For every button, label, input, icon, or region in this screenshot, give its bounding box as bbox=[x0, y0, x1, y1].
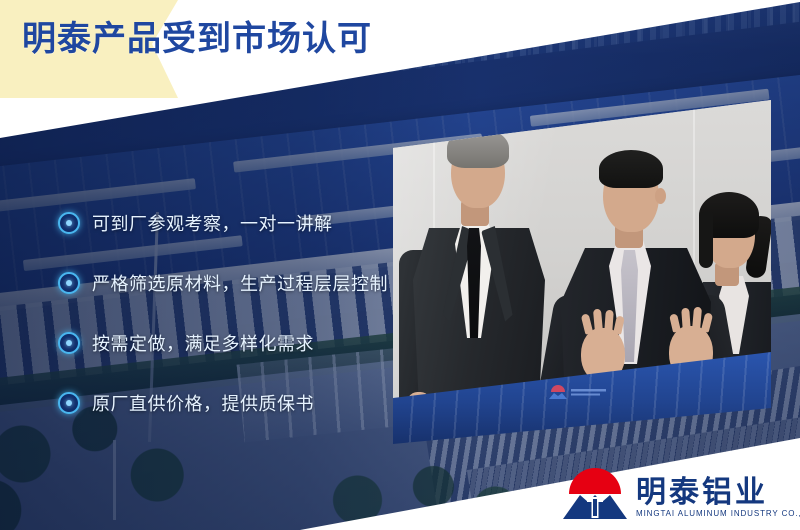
bullet-item-2: 严格筛选原材料，生产过程层层控制 bbox=[58, 270, 388, 296]
mini-mingtai-logo-icon bbox=[548, 384, 608, 400]
company-logo: 明泰铝业 MINGTAI ALUMINUM INDUSTRY CO., LTD bbox=[562, 462, 790, 520]
target-bullseye-icon bbox=[58, 332, 80, 354]
promo-banner: 明泰产品受到市场认可 bbox=[0, 0, 800, 530]
bullet-item-3: 按需定做，满足多样化需求 bbox=[58, 330, 388, 356]
sun-mountain-logo-icon bbox=[562, 464, 628, 520]
logo-name-cn: 明泰铝业 bbox=[636, 477, 768, 509]
bullet-item-1: 可到厂参观考察，一对一讲解 bbox=[58, 210, 388, 236]
bullet-label: 按需定做，满足多样化需求 bbox=[92, 330, 314, 356]
bullet-label: 原厂直供价格，提供质保书 bbox=[92, 390, 314, 416]
target-bullseye-icon bbox=[58, 212, 80, 234]
page-title: 明泰产品受到市场认可 bbox=[22, 22, 372, 56]
bullet-label: 严格筛选原材料，生产过程层层控制 bbox=[92, 270, 388, 296]
bullet-item-4: 原厂直供价格，提供质保书 bbox=[58, 390, 388, 416]
bullet-label: 可到厂参观考察，一对一讲解 bbox=[92, 210, 333, 236]
target-bullseye-icon bbox=[58, 272, 80, 294]
feature-bullet-list: 可到厂参观考察，一对一讲解 严格筛选原材料，生产过程层层控制 按需定做，满足多样… bbox=[58, 210, 388, 416]
target-bullseye-icon bbox=[58, 392, 80, 414]
logo-name-en: MINGTAI ALUMINUM INDUSTRY CO., LTD bbox=[636, 509, 800, 518]
